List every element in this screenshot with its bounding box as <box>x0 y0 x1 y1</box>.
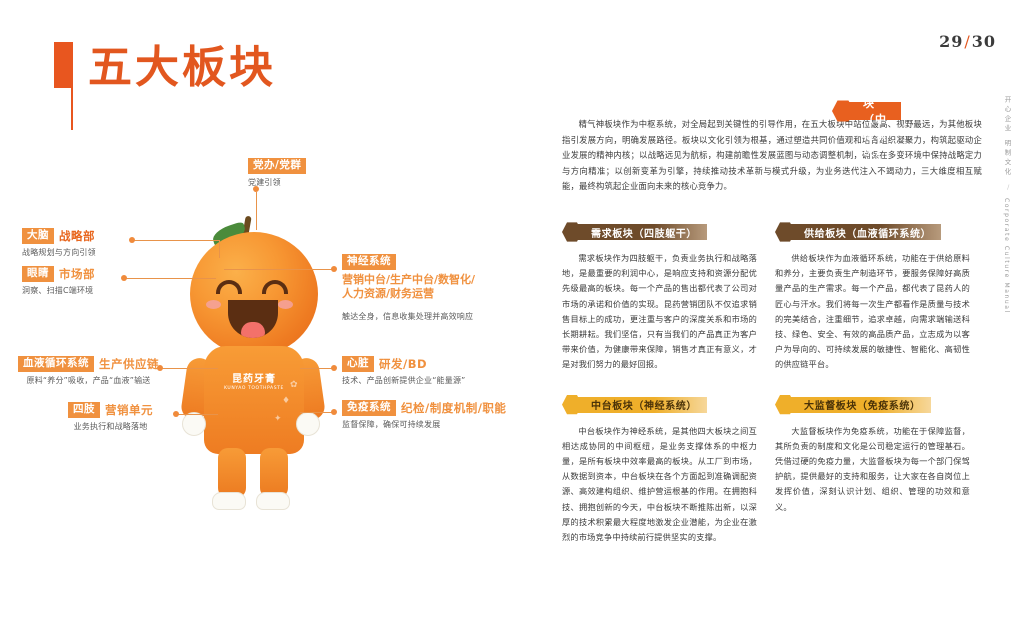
mascot-shoe-left <box>212 492 246 510</box>
label-tag-blood: 血液循环系统 <box>18 356 94 372</box>
label-blood-supply-chain: 血液循环系统 生产供应链 原料“养分”吸收，产品“血液”输送 <box>18 356 159 386</box>
page-number-right: 30 <box>972 32 996 51</box>
page-title: 五大板块 <box>88 42 276 94</box>
connector-eyes <box>124 278 216 279</box>
section-middle: 中台板块（神经系统） 中台板块作为神经系统，是其他四大板块之间互相达成协同的中间… <box>562 395 757 546</box>
mascot-leg-left <box>218 448 246 498</box>
label-nervous-system: 神经系统 营销中台/生产中台/数智化/ 人力资源/财务运营 触达全身，信息收集处… <box>342 254 475 322</box>
label-eyes-market: 眼睛 市场部 洞察、扫描C端环境 <box>22 266 95 296</box>
label-desc-eyes: 洞察、扫描C端环境 <box>22 285 95 296</box>
section-supply-heading: 供给板块（血液循环系统） <box>788 224 941 240</box>
side-text-en: Corporate Culture Manual <box>1002 198 1011 314</box>
side-vertical-text: 开心企业 明制文化 / Corporate Culture Manual <box>1002 96 1016 314</box>
connector-blood <box>160 368 218 369</box>
section-grid-row-1: 需求板块（四肢躯干） 需求板块作为四肢躯干，负责业务执行和战略落地，是最重要的利… <box>562 222 982 373</box>
mascot-hand-right <box>296 412 320 436</box>
label-desc-blood: 原料“养分”吸收，产品“血液”输送 <box>18 375 159 386</box>
section-spirit-heading: 精气神板块（中枢系统） <box>845 102 901 120</box>
label-party-office: 党办/党群 党建引领 <box>248 158 306 188</box>
label-dept-marketing-unit: 营销单元 <box>105 402 153 418</box>
section-middle-heading: 中台板块（神经系统） <box>575 397 707 413</box>
section-supply-body: 供给板块作为血液循环系统，功能在于供给原料和养分，主要负责生产制造环节，要服务保… <box>775 251 970 373</box>
side-text-cn: 开心企业 明制文化 <box>1002 96 1011 177</box>
page-number-left: 29 <box>939 32 963 51</box>
section-spirit: 精气神板块（中枢系统） 精气神板块作为中枢系统，对全局起到关键性的引导作用，在五… <box>562 85 982 195</box>
section-demand-body: 需求板块作为四肢躯干，负责业务执行和战略落地，是最重要的利润中心，是响应支持和资… <box>562 251 757 373</box>
sparkle-icon: ✦ <box>274 414 282 424</box>
label-desc-limbs: 业务执行和战略落地 <box>68 421 153 432</box>
label-desc-nervous: 触达全身，信息收集处理并高效响应 <box>342 311 475 322</box>
connector-dot-immune <box>331 409 337 415</box>
label-tag-party: 党办/党群 <box>248 158 306 174</box>
connector-party <box>256 192 257 230</box>
connector-dot-heart <box>331 365 337 371</box>
label-tag-heart: 心脏 <box>342 356 374 372</box>
connector-brain <box>132 240 220 241</box>
label-desc-party: 党建引领 <box>248 177 306 188</box>
label-dept-supply-chain: 生产供应链 <box>99 356 159 372</box>
section-spirit-body: 精气神板块作为中枢系统，对全局起到关键性的引导作用，在五大板块中站位最高、视野最… <box>562 117 982 195</box>
label-dept-strategy: 战略部 <box>59 228 95 244</box>
label-tag-brain: 大脑 <box>22 228 54 244</box>
connector-dot-nervous <box>331 266 337 272</box>
section-grid: 需求板块（四肢躯干） 需求板块作为四肢躯干，负责业务执行和战略落地，是最重要的利… <box>562 222 982 545</box>
label-heart-rd: 心脏 研发/BD 技术、产品创新提供企业“能量源” <box>342 356 466 386</box>
connector-limbs <box>176 414 218 415</box>
mascot-logo: 昆药牙膏 KUNYAO TOOTHPASTE <box>220 370 288 391</box>
label-desc-immune: 监督保障，确保可持续发展 <box>342 419 506 430</box>
title-flag-icon <box>54 42 74 130</box>
connector-dot-brain <box>129 237 135 243</box>
section-supervise-header: 大监督板块（免疫系统） <box>775 395 970 415</box>
side-text-divider: / <box>1002 183 1016 192</box>
section-middle-body: 中台板块作为神经系统，是其他四大板块之间互相达成协同的中间枢纽，是业务支撑体系的… <box>562 424 757 546</box>
connector-dot-limbs <box>173 411 179 417</box>
section-demand-heading: 需求板块（四肢躯干） <box>575 224 707 240</box>
leaf-motif-icon: ✿ <box>290 380 298 390</box>
label-brain-strategy: 大脑 战略部 战略规划与方向引领 <box>22 228 96 258</box>
connector-nervous <box>224 269 334 270</box>
connector-immune <box>300 412 334 413</box>
mascot-logo-en: KUNYAO TOOTHPASTE <box>220 386 288 391</box>
label-tag-nervous: 神经系统 <box>342 254 396 270</box>
label-tag-eyes: 眼睛 <box>22 266 54 282</box>
page-root: 五大板块 29/30 开心企业 明制文化 / Corporate Culture… <box>0 0 1024 628</box>
connector-brain-v <box>219 240 220 258</box>
label-tag-limbs: 四肢 <box>68 402 100 418</box>
label-dept-immune: 纪检/制度机制/职能 <box>401 400 506 416</box>
label-desc-heart: 技术、产品创新提供企业“能量源” <box>342 375 466 386</box>
mascot-hand-left <box>182 412 206 436</box>
section-supervise-body: 大监督板块作为免疫系统，功能在于保障监督，其所负责的制度和文化是公司稳定运行的管… <box>775 424 970 515</box>
label-multi-nervous: 营销中台/生产中台/数智化/ 人力资源/财务运营 <box>342 273 475 301</box>
label-immune-system: 免疫系统 纪检/制度机制/职能 监督保障，确保可持续发展 <box>342 400 506 430</box>
section-middle-header: 中台板块（神经系统） <box>562 395 757 415</box>
label-desc-brain: 战略规划与方向引领 <box>22 247 96 258</box>
mascot-shoe-right <box>256 492 290 510</box>
mascot-character: 昆药牙膏 KUNYAO TOOTHPASTE ♦ ✦ ✿ <box>178 208 328 538</box>
label-dept-market: 市场部 <box>59 266 95 282</box>
page-number: 29/30 <box>939 32 996 51</box>
connector-heart <box>300 368 334 369</box>
label-tag-immune: 免疫系统 <box>342 400 396 416</box>
tooth-icon: ♦ <box>282 396 290 406</box>
page-number-separator: / <box>963 32 971 51</box>
section-supply: 供给板块（血液循环系统） 供给板块作为血液循环系统，功能在于供给原料和养分，主要… <box>775 222 970 373</box>
section-supply-header: 供给板块（血液循环系统） <box>775 222 970 242</box>
mascot-leg-right <box>260 448 288 498</box>
mascot-logo-cn: 昆药牙膏 <box>220 370 288 385</box>
mascot-diagram: 昆药牙膏 KUNYAO TOOTHPASTE ♦ ✦ ✿ <box>0 150 530 590</box>
label-dept-rd-bd: 研发/BD <box>379 356 427 372</box>
section-grid-row-2: 中台板块（神经系统） 中台板块作为神经系统，是其他四大板块之间互相达成协同的中间… <box>562 395 982 546</box>
mascot-cheek-left <box>206 300 221 309</box>
connector-dot-eyes <box>121 275 127 281</box>
section-supervise-heading: 大监督板块（免疫系统） <box>788 397 931 413</box>
section-spirit-header: 精气神板块（中枢系统） <box>562 85 982 107</box>
mascot-tongue <box>241 322 265 338</box>
section-demand: 需求板块（四肢躯干） 需求板块作为四肢躯干，负责业务执行和战略落地，是最重要的利… <box>562 222 757 373</box>
mascot-cheek-right <box>278 300 293 309</box>
page-title-group: 五大板块 <box>54 42 276 130</box>
section-demand-header: 需求板块（四肢躯干） <box>562 222 757 242</box>
section-supervise: 大监督板块（免疫系统） 大监督板块作为免疫系统，功能在于保障监督，其所负责的制度… <box>775 395 970 546</box>
label-limbs-marketing: 四肢 营销单元 业务执行和战略落地 <box>68 402 153 432</box>
